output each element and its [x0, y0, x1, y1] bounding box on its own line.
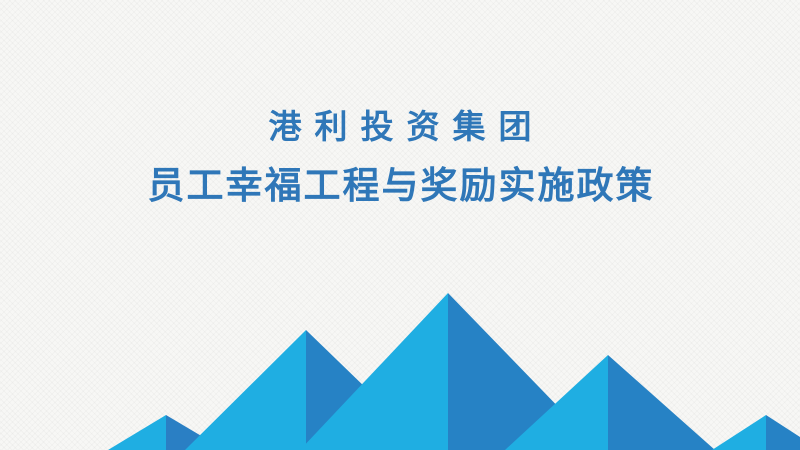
peak-mid-right-dark-face: [608, 355, 715, 450]
presentation-slide: 港利投资集团 员工幸福工程与奖励实施政策: [0, 0, 800, 450]
peak-small-right-light-face: [712, 415, 766, 450]
mountain-range-graphic: [0, 275, 800, 450]
slide-title-primary: 港利投资集团: [0, 104, 800, 150]
slide-title-subtitle: 员工幸福工程与奖励实施政策: [0, 162, 800, 210]
slide-title-block: 港利投资集团 员工幸福工程与奖励实施政策: [0, 104, 800, 210]
peak-small-left-light-face: [108, 415, 166, 450]
peak-small-right-dark-face: [766, 415, 800, 450]
peak-large-left-light-face: [185, 330, 306, 450]
